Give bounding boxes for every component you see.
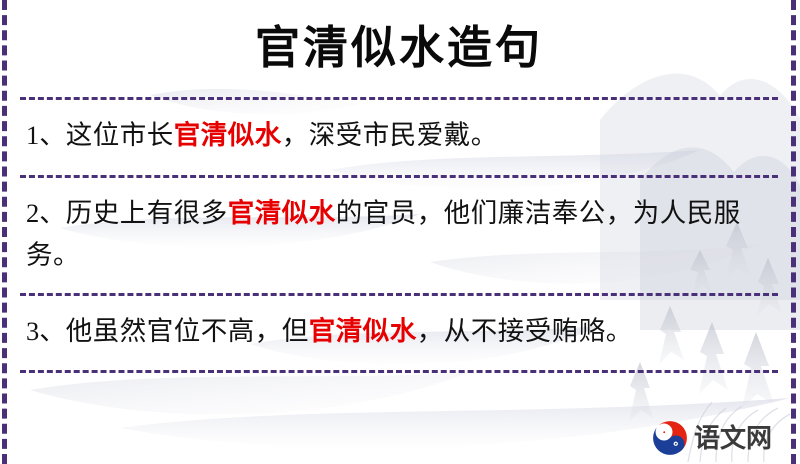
- sentence-1-idiom: 官清似水: [174, 120, 282, 150]
- sentence-item-2: 2、历史上有很多官清似水的官员，他们廉洁奉公，为人民服务。: [20, 178, 778, 276]
- sentence-2-number: 2、: [26, 198, 66, 228]
- sentence-item-1: 1、这位市长官清似水，深受市民爱戴。: [20, 100, 778, 156]
- sentence-3-number: 3、: [26, 316, 66, 346]
- sentence-2-part-1: 历史上有很多: [66, 198, 228, 228]
- sentence-1-part-1: 这位市长: [66, 120, 174, 150]
- sentence-2-idiom: 官清似水: [228, 198, 336, 228]
- page-title: 官清似水造句: [20, 0, 778, 79]
- divider-4: [20, 370, 778, 373]
- worksheet-content: 官清似水造句 1、这位市长官清似水，深受市民爱戴。 2、历史上有很多官清似水的官…: [0, 0, 800, 464]
- sentence-worksheet-page: 官清似水造句 1、这位市长官清似水，深受市民爱戴。 2、历史上有很多官清似水的官…: [0, 0, 800, 464]
- right-dashed-border: [791, 0, 796, 464]
- logo-text: 语文网: [694, 425, 772, 451]
- sentence-1-part-3: ，深受市民爱戴。: [282, 120, 498, 150]
- left-dashed-border: [2, 0, 7, 464]
- sentence-1-number: 1、: [26, 120, 66, 150]
- sentence-3-part-1: 他虽然官位不高，但: [66, 316, 309, 346]
- yin-yang-circle-icon: [652, 420, 688, 456]
- sentence-3-idiom: 官清似水: [309, 316, 417, 346]
- sentence-3-part-3: ，从不接受贿赂。: [417, 316, 633, 346]
- sentence-item-3: 3、他虽然官位不高，但官清似水，从不接受贿赂。: [20, 296, 778, 352]
- site-logo[interactable]: 语文网: [652, 420, 772, 456]
